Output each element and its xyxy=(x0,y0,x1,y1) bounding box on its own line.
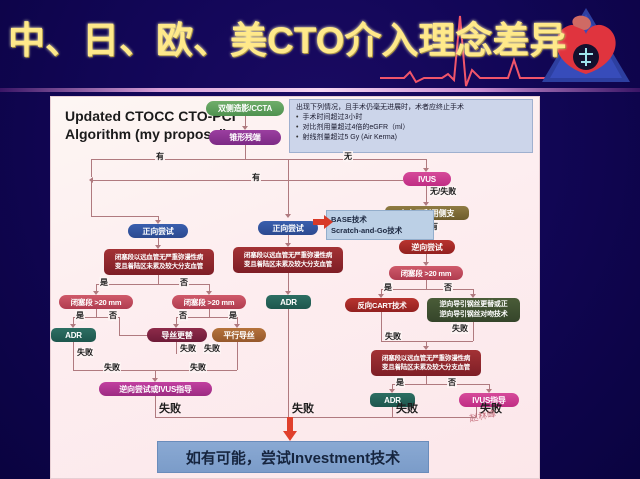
node-parallel-wire[interactable]: 平行导丝 xyxy=(212,328,266,342)
node-retrograde-wire-technique[interactable]: 逆向导引钢丝更替或正 逆向导引钢丝对吻技术 xyxy=(427,298,520,322)
edge-mid-final-fail xyxy=(288,309,289,417)
label-yes-left: 是 xyxy=(99,277,109,288)
label-fail-left-1: 失败 xyxy=(103,362,121,373)
node-occlusion-length-left-a[interactable]: 闭塞段 >20 mm xyxy=(59,295,133,309)
label-no-right-2: 否 xyxy=(447,377,457,388)
edge-left-col-down xyxy=(91,180,92,216)
edge-occl-a-down xyxy=(96,309,97,317)
red-arrow-to-base-icon xyxy=(313,215,333,229)
label-yes-right: 是 xyxy=(383,282,393,293)
node-tapered-stump[interactable]: 锥形残端 xyxy=(209,130,281,145)
edge-right-vessel-split xyxy=(392,384,489,385)
label-fail-retrowire: 失败 xyxy=(451,323,469,334)
label-none-1: 无 xyxy=(343,151,353,162)
label-no-b: 否 xyxy=(178,310,188,321)
node-occlusion-length-left-b[interactable]: 闭塞段 >20 mm xyxy=(172,295,246,309)
edge-stump-no-right xyxy=(245,159,427,160)
label-none-or-fail: 无/失败 xyxy=(429,186,457,197)
label-fail-wireswap: 失败 xyxy=(179,343,197,354)
label-no-left: 否 xyxy=(179,277,189,288)
label-have-1: 有 xyxy=(155,151,165,162)
edge-retrowire-fail xyxy=(473,322,474,341)
edge-left-drop xyxy=(91,159,92,177)
node-adr-left[interactable]: ADR xyxy=(51,328,96,342)
node-retrograde[interactable]: 逆向尝试 xyxy=(399,240,455,254)
flowchart-panel: Updated CTOCC CTO-PCI Algorithm (my prop… xyxy=(50,96,540,479)
edge-stump-yes-left xyxy=(91,159,246,160)
node-adr-mid[interactable]: ADR xyxy=(266,295,311,309)
edge-left-to-antegrade xyxy=(91,216,158,217)
node-antegrade-left[interactable]: 正向尝试 xyxy=(128,224,188,238)
notes-item-3: 射线剂量超过5 Gy (Air Kerma) xyxy=(296,133,527,143)
final-recommendation-box[interactable]: 如有可能，尝试Investment技术 xyxy=(157,441,429,473)
flowchart-title-line2: Algorithm (my proposal) xyxy=(65,125,228,143)
node-ivus-top[interactable]: IVUS xyxy=(403,172,451,186)
edge-stump-down xyxy=(245,145,246,159)
handwritten-signature: 赵林峰 xyxy=(468,406,497,424)
edge-occl-b-down xyxy=(209,309,210,317)
edge-adr-left-fail xyxy=(73,342,74,370)
edge-a-no-join xyxy=(119,335,149,336)
edge-cart-fail xyxy=(381,312,382,341)
title-banner: 中、日、欧、美CTO介入理念差异 xyxy=(0,0,640,92)
edge-wireswap-fail xyxy=(176,342,177,354)
edge-mid-down xyxy=(288,159,289,216)
node-bilateral-angiography[interactable]: 双侧造影/CCTA xyxy=(206,101,284,116)
node-vessel-criteria-left[interactable]: 闭塞段以远血管无严重弥漫性病 变且着陆区未累及较大分支血管 xyxy=(104,249,214,275)
termination-criteria-box: 出现下列情况，且手术仍毫无进展时，术者应终止手术 手术时间超过3小时 对比剂用量… xyxy=(289,99,533,153)
edge-bottom-bus xyxy=(155,417,476,418)
label-yes-a: 是 xyxy=(75,310,85,321)
node-wire-swap[interactable]: 导丝更替 xyxy=(147,328,207,342)
node-occlusion-length-right[interactable]: 闭塞段 >20 mm xyxy=(389,266,463,280)
edge-adr-right-fail xyxy=(392,407,393,417)
arrow-mid-antegrade xyxy=(285,214,291,218)
label-fail-bottom-3: 失败 xyxy=(395,400,419,416)
edge-mid-to-adr xyxy=(288,273,289,293)
edge-occl-right-down xyxy=(426,280,427,289)
edge-right-vessel-down xyxy=(426,376,427,384)
node-vessel-criteria-mid[interactable]: 闭塞段以远血管无严重弥漫性病 变且着陆区未累及较大分支血管 xyxy=(233,247,343,273)
base-line-1: BASE技术 xyxy=(331,214,429,225)
base-technique-box: BASE技术 Scratch-and-Go技术 xyxy=(326,210,434,240)
edge-occl-right-split xyxy=(381,289,473,290)
banner-divider xyxy=(0,88,640,92)
notes-header: 出现下列情况，且手术仍毫无进展时，术者应终止手术 xyxy=(296,103,527,113)
label-fail-bottom-2: 失败 xyxy=(291,400,315,416)
red-arrow-to-final-icon xyxy=(283,417,297,441)
node-antegrade-mid[interactable]: 正向尝试 xyxy=(258,221,318,235)
edge-right-converge xyxy=(381,341,473,342)
node-retrograde-or-ivus[interactable]: 逆向尝试或IVUS指导 xyxy=(99,382,212,396)
label-fail-bottom-1: 失败 xyxy=(158,400,182,416)
label-yes-right-2: 是 xyxy=(395,377,405,388)
edge-parallel-fail xyxy=(237,342,238,370)
edge-vessel-left-down xyxy=(158,275,159,284)
page-title: 中、日、欧、美CTO介入理念差异 xyxy=(8,16,566,66)
label-fail-parallel: 失败 xyxy=(203,343,221,354)
edge-collateral-yes-left xyxy=(91,180,403,181)
label-fail-left-2: 失败 xyxy=(189,362,207,373)
notes-item-1: 手术时间超过3小时 xyxy=(296,113,527,123)
base-line-2: Scratch-and-Go技术 xyxy=(331,225,429,236)
label-no-right: 否 xyxy=(443,282,453,293)
edge-a-no-to-wireswap xyxy=(119,317,120,335)
notes-item-2: 对比剂用量超过4倍的eGFR（ml） xyxy=(296,123,527,133)
label-fail-adr-left: 失败 xyxy=(76,347,94,358)
edge-vessel-left-split xyxy=(96,284,209,285)
label-no-a: 否 xyxy=(108,310,118,321)
node-vessel-criteria-right[interactable]: 闭塞段以远血管无严重弥漫性病 变且着陆区未累及较大分支血管 xyxy=(371,350,481,376)
node-reverse-cart[interactable]: 反向CART技术 xyxy=(345,298,419,312)
label-have-2: 有 xyxy=(251,172,261,183)
edge-left-final-fail xyxy=(155,396,156,417)
slide-root: 中、日、欧、美CTO介入理念差异 Updated CTOCC CTO-PCI A… xyxy=(0,0,640,479)
